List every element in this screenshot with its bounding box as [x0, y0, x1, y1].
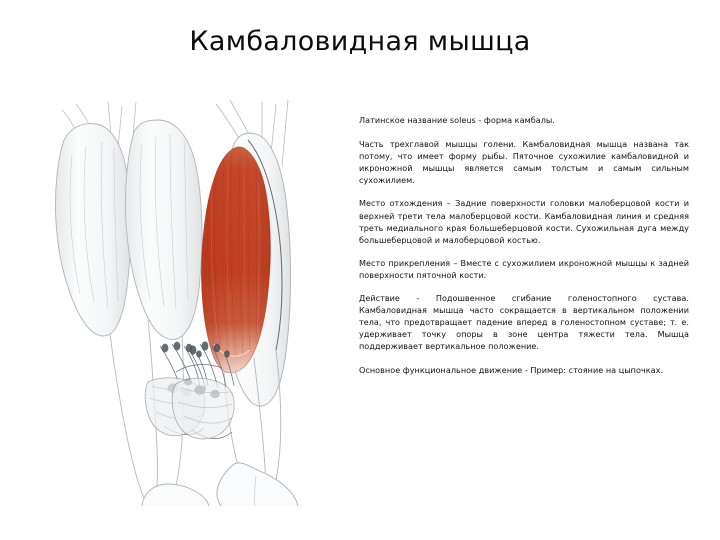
left-achilles-line: [110, 334, 144, 498]
left-leg-figure: [55, 102, 208, 506]
anatomy-svg: [48, 96, 348, 506]
content-text-column: Латинское название soleus - форма камбал…: [359, 114, 689, 376]
paragraph-functional-move: Основное функциональное движение - Приме…: [359, 364, 689, 376]
right-foot-outline: [217, 463, 298, 506]
left-foot-outline: [142, 484, 209, 506]
paragraph-action: Действие - Подошвенное сгибание голеност…: [359, 292, 689, 352]
page-title: Камбаловидная мышца: [0, 26, 720, 57]
anatomy-illustration: [48, 96, 348, 506]
right-ankle-bones: [172, 341, 234, 439]
paragraph-origin: Место отхождения – Задние поверхности го…: [359, 197, 689, 245]
left-gastrocnemius-lateral: [125, 120, 202, 339]
slide-canvas: Камбаловидная мышца: [0, 0, 720, 540]
paragraph-latin-name: Латинское название soleus - форма камбал…: [359, 114, 689, 126]
left-gastrocnemius-medial: [55, 124, 130, 336]
paragraph-description: Часть трехглавой мышцы голени. Камбалови…: [359, 138, 689, 186]
paragraph-insertion: Место прикрепления – Вместе с сухожилием…: [359, 257, 689, 281]
